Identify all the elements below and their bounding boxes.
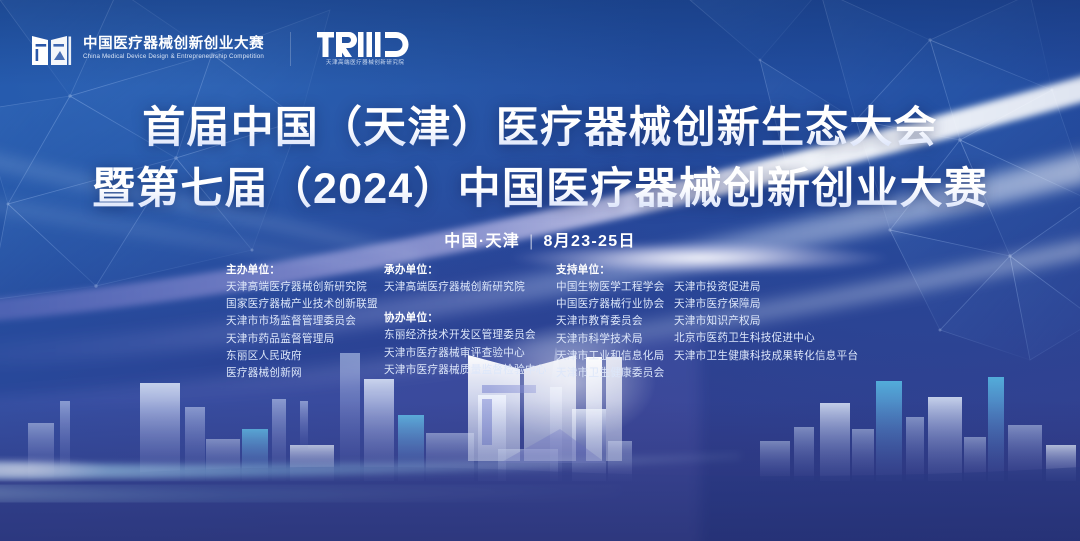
list-item: 天津市卫生健康科技成果转化信息平台 [674,348,884,365]
supporters-column-a: 支持单位： 中国生物医学工程学会 中国医疗器械行业协会 天津市教育委员会 天津市… [556,262,674,382]
list-item: 天津市投资促进局 [674,279,884,296]
list-item: 天津市医疗器械质量监督检验中心 [384,362,556,379]
co-organizer-heading: 协办单位： [384,310,556,327]
supporters-column-b: 天津市投资促进局 天津市医疗保障局 天津市知识产权局 北京市医药卫生科技促进中心… [674,262,884,382]
list-item: 天津市卫生健康委员会 [556,365,674,382]
competition-logo[interactable]: 中国医疗器械创新创业大赛 China Medical Device Design… [30,27,264,70]
list-item: 天津市医疗保障局 [674,296,884,313]
list-item: 国家医疗器械产业技术创新联盟 [226,296,384,313]
list-item: 北京市医药卫生科技促进中心 [674,330,884,347]
event-date: 8月23-25日 [544,233,636,250]
event-meta: 中国·天津|8月23-25日 [0,227,1080,251]
poster-header: 中国医疗器械创新创业大赛 China Medical Device Design… [30,27,413,70]
organizer-column: 承办单位： 天津高端医疗器械创新研究院 协办单位： 东丽经济技术开发区管理委员会… [384,262,556,379]
list-item: 天津市工业和信息化局 [556,348,674,365]
institute-name-cn: 天津高端医疗器械创新研究院 [326,61,405,67]
column-spacer [384,296,556,310]
supporters-column: 支持单位： 中国生物医学工程学会 中国医疗器械行业协会 天津市教育委员会 天津市… [556,262,884,382]
competition-name-en: China Medical Device Design & Entreprene… [83,54,264,61]
open-book-door-logo-icon [30,27,74,70]
list-item: 天津市药品监督管理局 [226,331,384,348]
logo-divider [290,32,291,66]
list-item: 中国医疗器械行业协会 [556,296,674,313]
list-item: 医疗器械创新网 [226,365,384,382]
list-item: 中国生物医学工程学会 [556,279,674,296]
list-item: 天津市医疗器械审评查验中心 [384,345,556,362]
event-location: 中国·天津 [444,233,520,250]
hosts-heading: 主办单位： [226,262,384,279]
list-item: 东丽区人民政府 [226,348,384,365]
list-item: 天津市科学技术局 [556,331,674,348]
poster-title: 首届中国（天津）医疗器械创新生态大会 暨第七届（2024）中国医疗器械创新创业大… [0,98,1080,220]
title-line-1: 首届中国（天津）医疗器械创新生态大会 [0,98,1080,159]
list-item: 天津高端医疗器械创新研究院 [384,279,556,296]
competition-name-cn: 中国医疗器械创新创业大赛 [83,37,264,52]
list-item: 天津市知识产权局 [674,313,884,330]
list-item: 天津市教育委员会 [556,313,674,330]
organizer-block: 主办单位： 天津高端医疗器械创新研究院 国家医疗器械产业技术创新联盟 天津市市场… [226,262,884,382]
institute-logo[interactable]: 天津高端医疗器械创新研究院 [317,31,413,67]
meta-separator: | [529,233,534,251]
title-line-2: 暨第七届（2024）中国医疗器械创新创业大赛 [0,159,1080,220]
list-item: 天津市市场监督管理委员会 [226,313,384,330]
list-item: 天津高端医疗器械创新研究院 [226,279,384,296]
supporters-heading: 支持单位： [556,262,674,279]
hosts-column: 主办单位： 天津高端医疗器械创新研究院 国家医疗器械产业技术创新联盟 天津市市场… [226,262,384,382]
organizer-heading: 承办单位： [384,262,556,279]
poster-canvas: 中国医疗器械创新创业大赛 China Medical Device Design… [0,0,1080,541]
column-spacer [674,262,884,279]
list-item: 东丽经济技术开发区管理委员会 [384,327,556,344]
triid-wordmark-icon [317,31,413,58]
